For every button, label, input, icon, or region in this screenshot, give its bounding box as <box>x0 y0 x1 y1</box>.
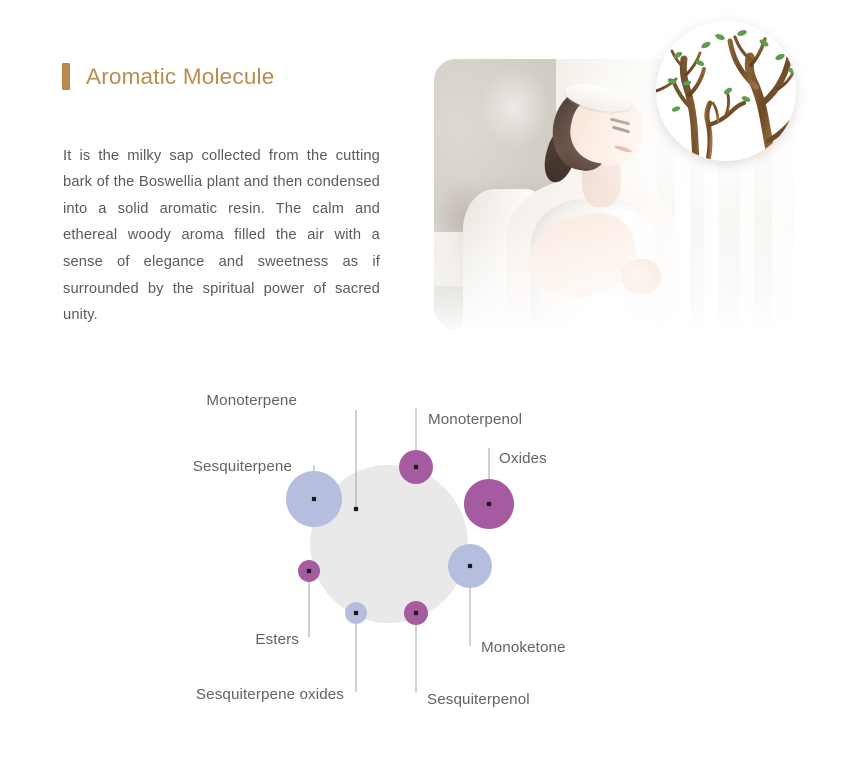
bubble-label: Monoterpene <box>206 392 297 409</box>
chart-point-sesquiterpene[interactable]: Sesquiterpene <box>193 458 342 527</box>
title-accent-bar <box>62 63 70 90</box>
bubble-label: Sesquiterpenol <box>427 691 530 708</box>
bubble-label: Monoketone <box>481 639 566 656</box>
bubble-label: Monoterpenol <box>428 411 522 428</box>
bubble-label: Sesquiterpene <box>193 458 292 475</box>
photo-block <box>434 59 794 329</box>
center-marker-dot <box>354 611 358 615</box>
center-marker-dot <box>354 507 358 511</box>
center-marker-dot <box>468 564 472 568</box>
center-marker-dot <box>307 569 311 573</box>
description-paragraph: It is the milky sap collected from the c… <box>63 143 380 329</box>
center-marker-dot <box>414 465 418 469</box>
chart-point-sesquiterpene-oxides[interactable]: Sesquiterpene oxides <box>196 602 367 703</box>
page-title: Aromatic Molecule <box>62 63 274 90</box>
center-marker-dot <box>312 497 316 501</box>
center-marker-dot <box>414 611 418 615</box>
chart-point-oxides[interactable]: Oxides <box>464 448 547 529</box>
chart-point-monoterpenol[interactable]: Monoterpenol <box>399 408 522 484</box>
chart-point-esters[interactable]: Esters <box>255 560 320 648</box>
bubble-label: Esters <box>255 631 299 648</box>
page-title-text: Aromatic Molecule <box>86 64 274 90</box>
aromatic-molecule-chart: MonoterpeneSesquiterpeneMonoterpenolOxid… <box>0 360 848 720</box>
center-marker-dot <box>487 502 491 506</box>
tree-branches-inset <box>656 21 796 161</box>
bubble-label: Oxides <box>499 450 547 467</box>
chart-point-monoketone[interactable]: Monoketone <box>448 544 566 656</box>
bubble-label: Sesquiterpene oxides <box>196 686 344 703</box>
